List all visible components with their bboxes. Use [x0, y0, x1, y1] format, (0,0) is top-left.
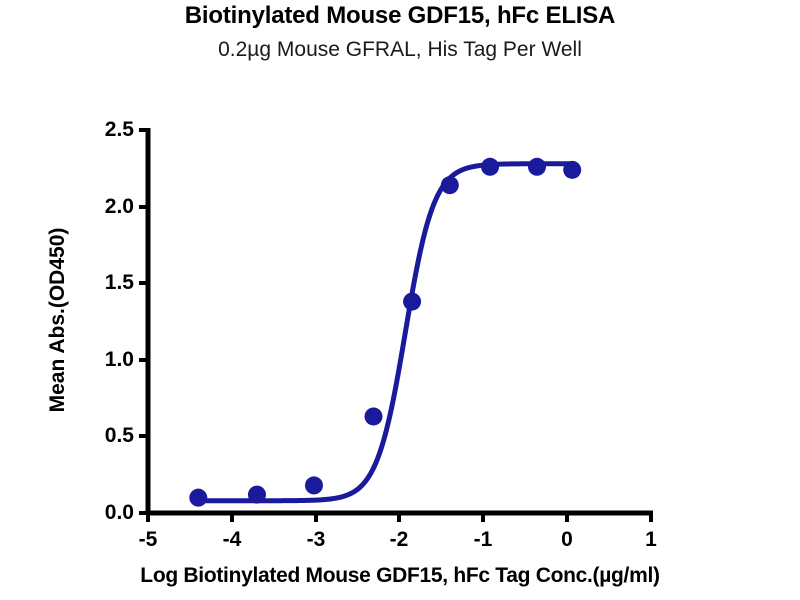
data-point	[563, 161, 581, 179]
data-point-group	[189, 158, 581, 507]
plot-area	[0, 0, 800, 600]
elisa-chart-figure: Biotinylated Mouse GDF15, hFc ELISA 0.2µ…	[0, 0, 800, 600]
data-point	[189, 489, 207, 507]
data-point	[481, 158, 499, 176]
data-point	[248, 486, 266, 504]
data-point	[365, 407, 383, 425]
fitted-curve	[198, 164, 572, 501]
data-point	[528, 158, 546, 176]
data-point	[305, 476, 323, 494]
data-point	[441, 176, 459, 194]
data-point	[403, 293, 421, 311]
